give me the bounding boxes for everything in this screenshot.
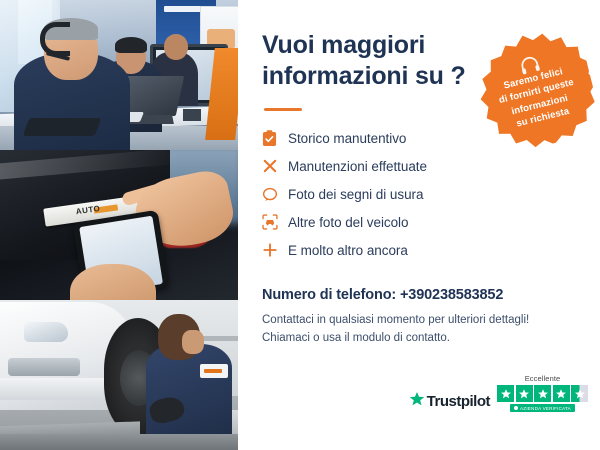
car-headlight: [24, 322, 68, 342]
plus-icon: [262, 242, 288, 258]
mechanic-face: [182, 330, 204, 354]
feature-label: Foto dei segni di usura: [288, 187, 423, 202]
star-4: [553, 385, 570, 402]
star-2: [516, 385, 533, 402]
feature-item-maintenance-done: Manutenzioni effettuate: [262, 153, 578, 179]
trustpilot-logo: Trustpilot: [409, 391, 490, 412]
star-3: [534, 385, 551, 402]
call-center-agents-photo: [0, 0, 238, 150]
trustpilot-widget[interactable]: Trustpilot Eccellente: [409, 374, 588, 412]
verified-business-badge: AZIENDA VERIFICATA: [510, 404, 575, 412]
feature-label: E molto altro ancora: [288, 243, 408, 258]
verified-check-icon: [514, 406, 518, 410]
trustpilot-star-icon: [409, 391, 425, 412]
star-1: [497, 385, 514, 402]
second-agent-hair: [115, 37, 147, 53]
contact-line-1: Contattaci in qualsiasi momento per ulte…: [262, 312, 578, 330]
contact-instructions: Contattaci in qualsiasi momento per ulte…: [262, 312, 578, 348]
headset-worn-icon: [40, 22, 70, 56]
accent-divider: [264, 108, 302, 111]
tools-cross-icon: [262, 158, 288, 174]
feature-item-more: E molto altro ancora: [262, 237, 578, 263]
feature-item-wear-photos: Foto dei segni di usura: [262, 181, 578, 207]
feature-item-vehicle-photos: Altre foto del veicolo: [262, 209, 578, 235]
background-agent-head: [164, 34, 188, 60]
feature-label: Storico manutentivo: [288, 131, 406, 146]
contact-line-2: Chiamaci o usa il modulo di contatto.: [262, 330, 578, 348]
trustpilot-rating-label: Eccellente: [525, 374, 561, 383]
desk-tablet: [23, 118, 102, 136]
phone-number[interactable]: Numero di telefono: +390238583852: [262, 287, 578, 303]
uniform-logo-patch: [200, 364, 228, 378]
trustpilot-wordmark: Trustpilot: [427, 393, 490, 410]
trustpilot-stars: [497, 385, 588, 402]
page-title: Vuoi maggiori informazioni su ?: [262, 30, 477, 91]
car-bumper: [0, 378, 112, 400]
clipboard-check-icon: [262, 130, 288, 147]
verified-label: AZIENDA VERIFICATA: [520, 406, 571, 411]
star-5: [571, 385, 588, 402]
mechanic-tyre-service-photo: [0, 300, 238, 450]
content-panel: Vuoi maggiori informazioni su ? Saremo f…: [238, 0, 600, 450]
trustpilot-rating: Eccellente: [497, 374, 588, 412]
car-frame-icon: [262, 214, 288, 230]
workshop-floor: [0, 434, 238, 450]
speech-bubble-icon: [262, 187, 288, 202]
feature-label: Manutenzioni effettuate: [288, 159, 427, 174]
feature-label: Altre foto del veicolo: [288, 215, 408, 230]
vehicle-inspection-tablet-photo: [0, 150, 238, 300]
photo-column: [0, 0, 238, 450]
car-grille: [8, 358, 80, 376]
promo-card: Vuoi maggiori informazioni su ? Saremo f…: [0, 0, 600, 450]
